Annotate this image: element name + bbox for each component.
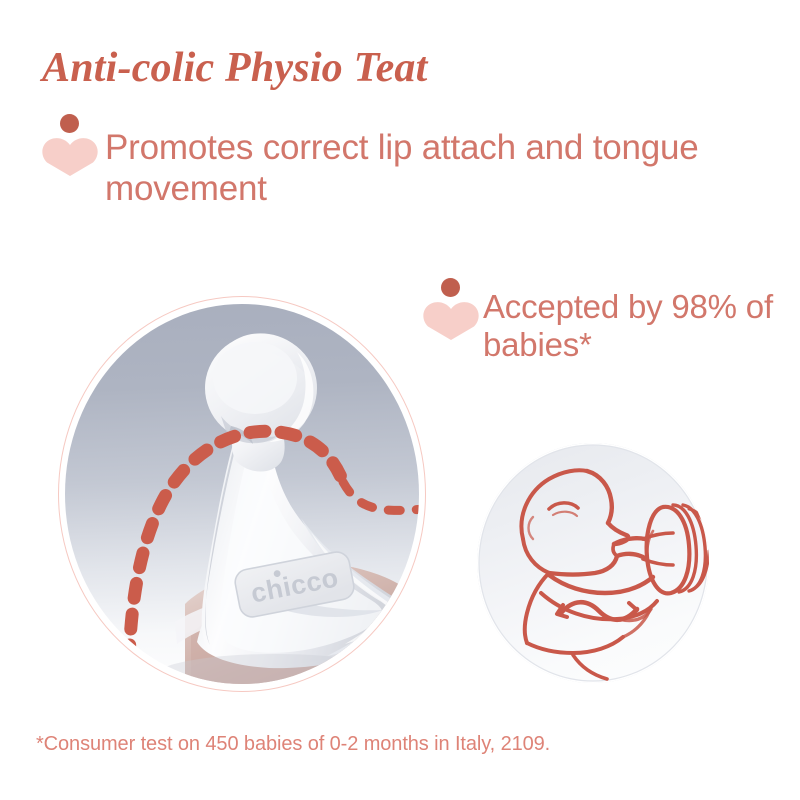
baby-icon — [42, 114, 98, 176]
product-circle-ring — [58, 296, 426, 692]
baby-icon — [423, 278, 479, 340]
feature-text-2: Accepted by 98% of babies* — [483, 288, 783, 365]
feeding-illustration-circle — [477, 443, 709, 683]
footnote: *Consumer test on 450 babies of 0-2 mont… — [36, 733, 550, 756]
baby-icon-body — [423, 300, 479, 340]
product-image-circle: chicco — [58, 296, 426, 692]
baby-icon-body — [42, 136, 98, 176]
baby-icon-head — [441, 278, 460, 297]
feature-text-1: Promotes correct lip attach and tongue m… — [105, 128, 765, 209]
baby-icon-head — [60, 114, 79, 133]
baby-feeding-line-art — [477, 443, 709, 683]
page-title: Anti-colic Physio Teat — [42, 44, 428, 92]
infographic-page: Anti-colic Physio Teat Promotes correct … — [0, 0, 800, 800]
feeding-illustration-background — [477, 443, 709, 683]
